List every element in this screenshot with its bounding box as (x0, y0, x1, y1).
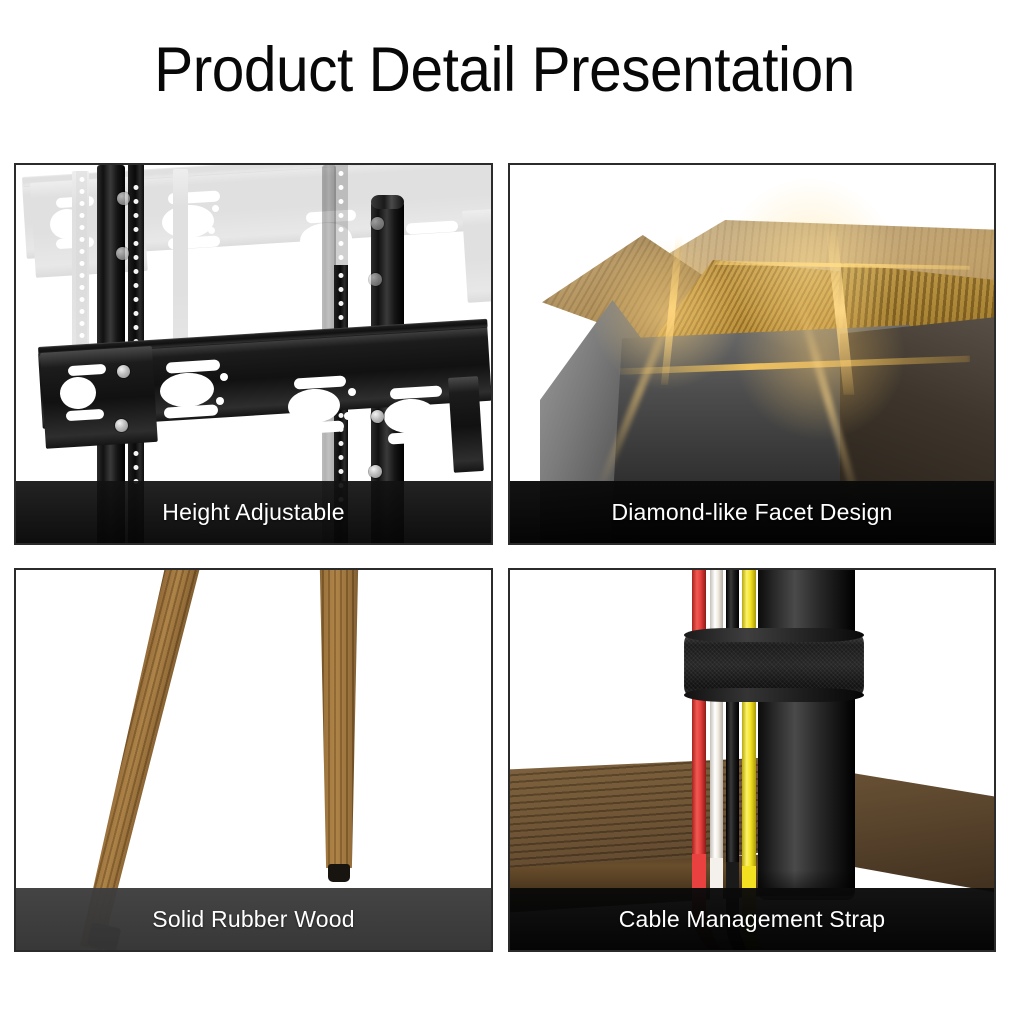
right-pole-cap (371, 195, 404, 209)
page-title: Product Detail Presentation (35, 34, 973, 106)
caption-solid-rubber-wood: Solid Rubber Wood (16, 888, 491, 950)
strap-bottom-edge (684, 688, 864, 702)
product-detail-poster: Product Detail Presentation (0, 0, 1009, 1009)
panel-cable-management: Cable Management Strap (508, 568, 996, 952)
yellow-cable (742, 570, 756, 886)
screw-head (117, 365, 130, 378)
panel-solid-rubber-wood: Solid Rubber Wood (14, 568, 493, 952)
red-cable (692, 570, 706, 880)
white-cable (710, 570, 723, 882)
support-pole (758, 570, 855, 896)
rubber-foot (328, 864, 350, 882)
strap-top-edge (684, 628, 864, 642)
screw-head (115, 419, 128, 432)
caption-height-adjustable: Height Adjustable (16, 481, 491, 543)
panel-height-adjustable: Height Adjustable (14, 163, 493, 545)
caption-cable-management: Cable Management Strap (510, 888, 994, 950)
screw-head (371, 410, 384, 423)
black-cable (726, 570, 739, 884)
caption-diamond-facet: Diamond-like Facet Design (510, 481, 994, 543)
screw-head (369, 465, 382, 478)
cable-management-strap (684, 634, 864, 696)
panel-diamond-facet: Diamond-like Facet Design (508, 163, 996, 545)
